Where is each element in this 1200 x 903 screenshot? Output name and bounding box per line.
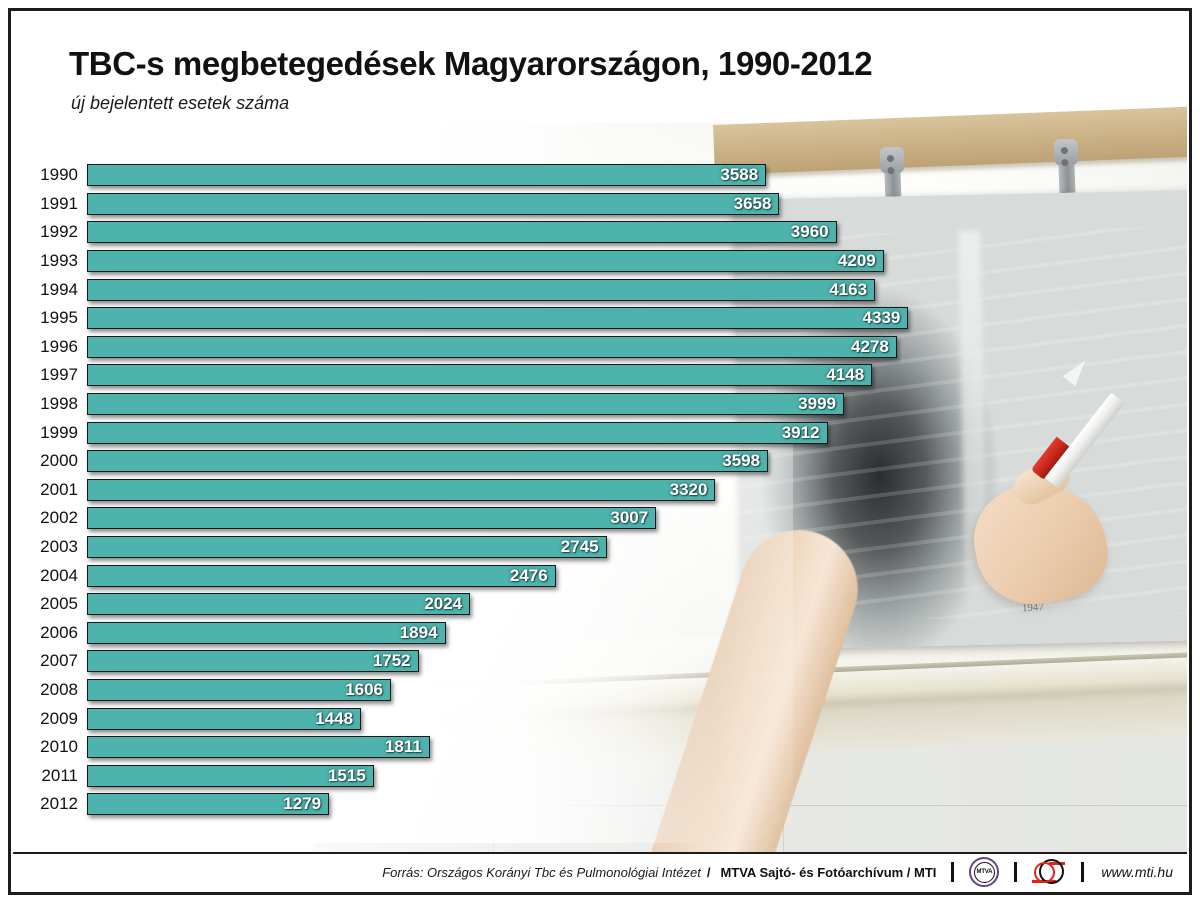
infographic-root: 1947 TBC-s megbetegedések Magyarországon… [0, 0, 1200, 903]
bar-category-label: 2005 [13, 594, 87, 614]
bar-container: 1448 [87, 704, 361, 733]
bar-container: 3007 [87, 504, 656, 533]
chart-row: 19913658 [13, 190, 1013, 219]
bar-container: 1811 [87, 733, 430, 762]
bar-category-label: 1992 [13, 222, 87, 242]
bar-category-label: 2003 [13, 537, 87, 557]
bar-value-label: 3658 [734, 194, 779, 214]
bar-container: 3658 [87, 190, 779, 219]
bar-value-label: 1606 [345, 680, 390, 700]
bar: 3320 [87, 479, 715, 501]
chart-row: 20042476 [13, 561, 1013, 590]
chart-row: 20013320 [13, 476, 1013, 505]
bar: 3598 [87, 450, 768, 472]
bar-container: 3960 [87, 218, 837, 247]
bar: 3912 [87, 422, 828, 444]
bar: 1606 [87, 679, 391, 701]
bar-container: 3598 [87, 447, 768, 476]
bar-category-label: 1999 [13, 423, 87, 443]
bar-value-label: 1448 [315, 709, 360, 729]
bar-container: 3999 [87, 390, 844, 419]
chart-row: 19954339 [13, 304, 1013, 333]
bar-container: 1894 [87, 619, 446, 648]
bar-value-label: 4278 [851, 337, 896, 357]
chart-row: 19983999 [13, 390, 1013, 419]
bar-value-label: 1894 [400, 623, 445, 643]
bar-category-label: 2011 [13, 766, 87, 786]
footer-divider-3 [1081, 862, 1084, 882]
chart-row: 20091448 [13, 704, 1013, 733]
bar-category-label: 2009 [13, 709, 87, 729]
bar: 1515 [87, 765, 374, 787]
bar: 3960 [87, 221, 837, 243]
bar-container: 2024 [87, 590, 470, 619]
inner-frame: 1947 TBC-s megbetegedések Magyarországon… [11, 11, 1189, 892]
bar-container: 4148 [87, 361, 872, 390]
bar-value-label: 2476 [510, 566, 555, 586]
bar: 1811 [87, 736, 430, 758]
bar-category-label: 2010 [13, 737, 87, 757]
bar-container: 4278 [87, 333, 897, 362]
header: TBC-s megbetegedések Magyarországon, 199… [69, 45, 872, 114]
bar-value-label: 1279 [283, 794, 328, 814]
bar-container: 2745 [87, 533, 607, 562]
footer-divider-2 [1014, 862, 1017, 882]
bar-value-label: 3598 [722, 451, 767, 471]
chart-row: 20071752 [13, 647, 1013, 676]
bar: 3658 [87, 193, 779, 215]
bar: 1752 [87, 650, 419, 672]
outer-frame: 1947 TBC-s megbetegedések Magyarországon… [8, 8, 1192, 895]
bar-value-label: 2745 [561, 537, 606, 557]
archive-separator: / [707, 865, 711, 880]
bar-container: 1606 [87, 676, 391, 705]
bar: 3999 [87, 393, 844, 415]
bar-value-label: 3007 [610, 508, 655, 528]
chart-row: 19944163 [13, 275, 1013, 304]
bar-value-label: 3912 [782, 423, 827, 443]
bar: 4278 [87, 336, 897, 358]
source-text: Forrás: Országos Korányi Tbc és Pulmonol… [382, 865, 701, 880]
bar-container: 4163 [87, 275, 875, 304]
footer: Forrás: Országos Korányi Tbc és Pulmonol… [13, 852, 1187, 890]
bar: 2745 [87, 536, 607, 558]
bar-category-label: 1998 [13, 394, 87, 414]
bar-value-label: 3960 [791, 222, 836, 242]
bar-category-label: 1990 [13, 165, 87, 185]
mtva-logo-icon: MTVA [969, 857, 999, 887]
bar-container: 3320 [87, 476, 715, 505]
bar-category-label: 2008 [13, 680, 87, 700]
bar: 4339 [87, 307, 908, 329]
bar-chart: 1990358819913658199239601993420919944163… [13, 161, 1013, 819]
chart-row: 19923960 [13, 218, 1013, 247]
chart-row: 19964278 [13, 333, 1013, 362]
bar-value-label: 1811 [385, 737, 429, 757]
bar-container: 3588 [87, 161, 766, 190]
footer-divider-1 [951, 862, 954, 882]
bar: 3588 [87, 164, 766, 186]
chart-row: 20003598 [13, 447, 1013, 476]
archive-text: MTVA Sajtó- és Fotóarchívum / MTI [720, 865, 936, 880]
bar-container: 2476 [87, 561, 556, 590]
bar-category-label: 1993 [13, 251, 87, 271]
chart-row: 20081606 [13, 676, 1013, 705]
bar-category-label: 1994 [13, 280, 87, 300]
bar: 4209 [87, 250, 884, 272]
chart-row: 20032745 [13, 533, 1013, 562]
bar-category-label: 1991 [13, 194, 87, 214]
bar: 1894 [87, 622, 446, 644]
bar-category-label: 2002 [13, 508, 87, 528]
bar-value-label: 4209 [838, 251, 883, 271]
chart-row: 19903588 [13, 161, 1013, 190]
bar-value-label: 3588 [720, 165, 765, 185]
mti-logo-icon [1032, 857, 1066, 887]
bar-value-label: 3999 [798, 394, 843, 414]
bar-category-label: 2001 [13, 480, 87, 500]
bar-value-label: 4339 [863, 308, 908, 328]
bar-category-label: 2004 [13, 566, 87, 586]
bar-container: 4209 [87, 247, 884, 276]
bar-container: 1752 [87, 647, 419, 676]
chart-row: 19934209 [13, 247, 1013, 276]
bar-container: 1279 [87, 790, 329, 819]
bar-category-label: 2006 [13, 623, 87, 643]
bar-category-label: 1996 [13, 337, 87, 357]
page-subtitle: új bejelentett esetek száma [71, 93, 872, 114]
chart-row: 20121279 [13, 790, 1013, 819]
bar-container: 1515 [87, 761, 374, 790]
bar-value-label: 4148 [826, 365, 871, 385]
bar-container: 3912 [87, 418, 828, 447]
bar: 3007 [87, 507, 656, 529]
bar: 1448 [87, 708, 361, 730]
chart-row: 20023007 [13, 504, 1013, 533]
bar-category-label: 2000 [13, 451, 87, 471]
bar: 2024 [87, 593, 470, 615]
bar-value-label: 1515 [328, 766, 373, 786]
bar-value-label: 2024 [424, 594, 469, 614]
bar-category-label: 2012 [13, 794, 87, 814]
bar-container: 4339 [87, 304, 908, 333]
bar: 2476 [87, 565, 556, 587]
website-url: www.mti.hu [1101, 864, 1173, 880]
bar-category-label: 2007 [13, 651, 87, 671]
chart-row: 19993912 [13, 418, 1013, 447]
chart-row: 19974148 [13, 361, 1013, 390]
chart-row: 20101811 [13, 733, 1013, 762]
bar-value-label: 1752 [373, 651, 418, 671]
bar-value-label: 4163 [829, 280, 874, 300]
chart-row: 20052024 [13, 590, 1013, 619]
bar: 4148 [87, 364, 872, 386]
bar-category-label: 1997 [13, 365, 87, 385]
chart-row: 20111515 [13, 761, 1013, 790]
bar-category-label: 1995 [13, 308, 87, 328]
page-title: TBC-s megbetegedések Magyarországon, 199… [69, 45, 872, 83]
mtva-logo-label: MTVA [974, 862, 995, 883]
bar-value-label: 3320 [670, 480, 715, 500]
bar: 1279 [87, 793, 329, 815]
bar: 4163 [87, 279, 875, 301]
chart-row: 20061894 [13, 619, 1013, 648]
